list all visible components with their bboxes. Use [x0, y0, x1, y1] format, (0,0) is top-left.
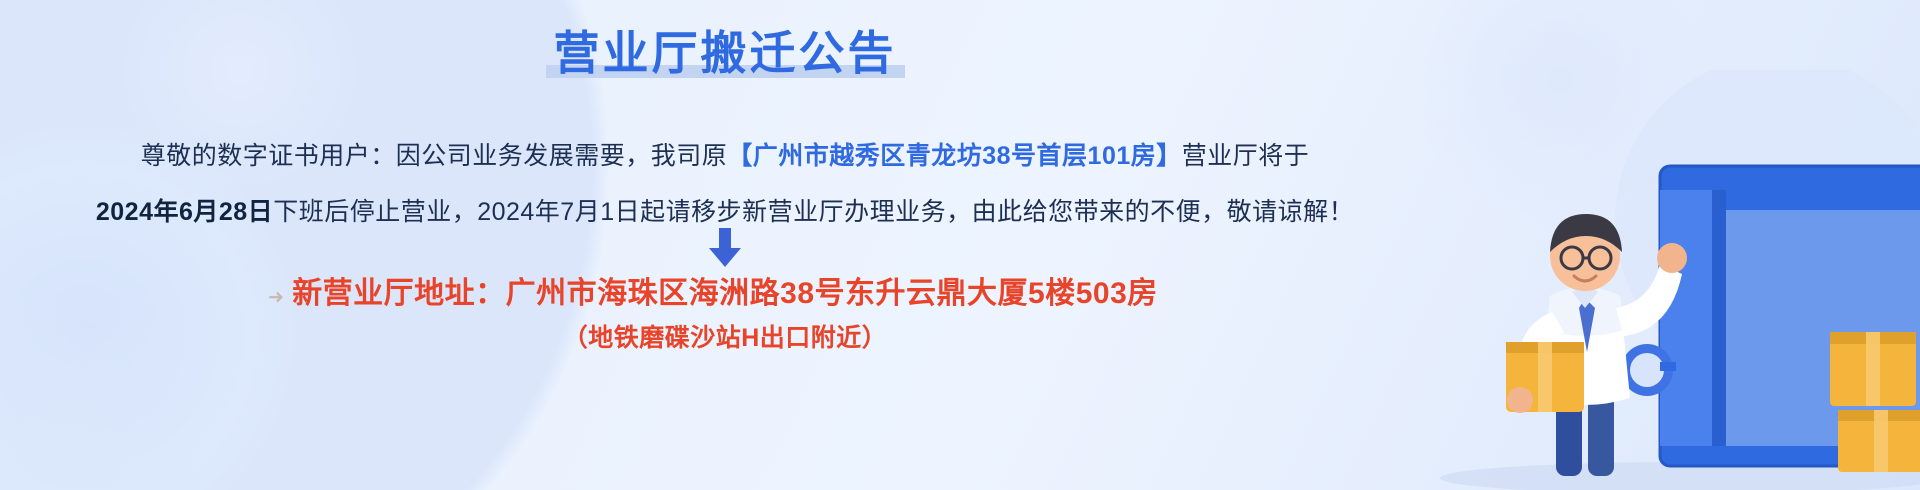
new-address-note: （地铁磨碟沙站H出口附近）	[0, 318, 1450, 358]
page-title-text: 营业厅搬迁公告	[554, 27, 897, 79]
notice-line-1-part1: 尊敬的数字证书用户：因公司业务发展需要，我司原	[141, 142, 728, 170]
notice-line-1-part2: 营业厅将于	[1182, 142, 1310, 170]
page-title-wrap: 营业厅搬迁公告	[0, 26, 1450, 80]
arrow-down-wrap	[0, 228, 1450, 268]
banner-content: 营业厅搬迁公告 尊敬的数字证书用户：因公司业务发展需要，我司原【广州市越秀区青龙…	[0, 0, 1450, 490]
notice-body: 尊敬的数字证书用户：因公司业务发展需要，我司原【广州市越秀区青龙坊38号首层10…	[0, 128, 1450, 240]
relocation-notice-banner: 营业厅搬迁公告 尊敬的数字证书用户：因公司业务发展需要，我司原【广州市越秀区青龙…	[0, 0, 1920, 490]
old-address-highlight: 【广州市越秀区青龙坊38号首层101房】	[727, 142, 1182, 170]
notice-line-1: 尊敬的数字证书用户：因公司业务发展需要，我司原【广州市越秀区青龙坊38号首层10…	[0, 128, 1450, 184]
new-address: 新营业厅地址：广州市海珠区海洲路38号东升云鼎大厦5楼503房	[0, 272, 1450, 316]
arrow-down-icon	[703, 228, 747, 268]
closing-date: 2024年6月28日	[96, 198, 273, 226]
notice-line-2-rest: 下班后停止营业，2024年7月1日起请移步新营业厅办理业务，由此给您带来的不便，…	[273, 198, 1354, 226]
cargo-boxes	[1830, 332, 1920, 472]
page-title: 营业厅搬迁公告	[550, 26, 901, 80]
delivery-truck-illustration	[1360, 70, 1920, 490]
